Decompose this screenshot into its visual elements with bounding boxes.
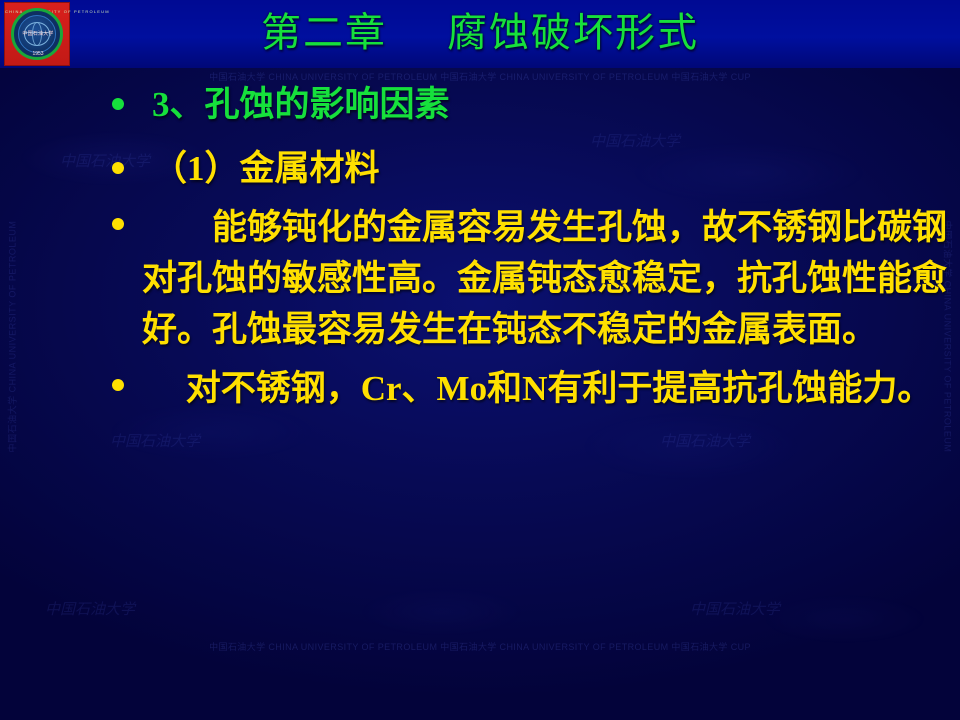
bullet-item-paragraph-1: 能够钝化的金属容易发生孔蚀，故不锈钢比碳钢对孔蚀的敏感性高。金属钝态愈稳定，抗孔… [112, 202, 960, 355]
university-emblem-logo: CHINA UNIVERSITY OF PETROLEUM 中国石油大学 195… [4, 2, 70, 66]
bullet-item-paragraph-2: 对不锈钢，Cr、Mo和N有利于提高抗孔蚀能力。 [112, 363, 960, 414]
bullet-item-subheading: （1）金属材料 [112, 146, 960, 192]
bullet-text: （1）金属材料 [124, 146, 960, 192]
bullet-text: 能够钝化的金属容易发生孔蚀，故不锈钢比碳钢对孔蚀的敏感性高。金属钝态愈稳定，抗孔… [76, 202, 960, 355]
slide-content: 3、孔蚀的影响因素 （1）金属材料 能够钝化的金属容易发生孔蚀，故不锈钢比碳钢对… [0, 72, 960, 652]
bullet-dot-icon [112, 162, 124, 174]
bullet-dot-icon [112, 98, 124, 110]
bullet-text: 对不锈钢，Cr、Mo和N有利于提高抗孔蚀能力。 [76, 363, 960, 414]
slide-header-bar: 第二章 腐蚀破坏形式 [0, 0, 960, 68]
bullet-item-heading: 3、孔蚀的影响因素 [112, 82, 960, 128]
emblem-year: 1953 [5, 51, 71, 57]
bullet-text: 3、孔蚀的影响因素 [124, 82, 960, 128]
slide-title: 第二章 腐蚀破坏形式 [0, 6, 960, 60]
emblem-center-text: 中国石油大学 [22, 30, 54, 37]
slide-footer: 上页 下页 返回 回主目录 2020/6/30 66 [0, 664, 960, 720]
presentation-slide: 中国石油大学 CHINA UNIVERSITY OF PETROLEUM 中国石… [0, 0, 960, 720]
